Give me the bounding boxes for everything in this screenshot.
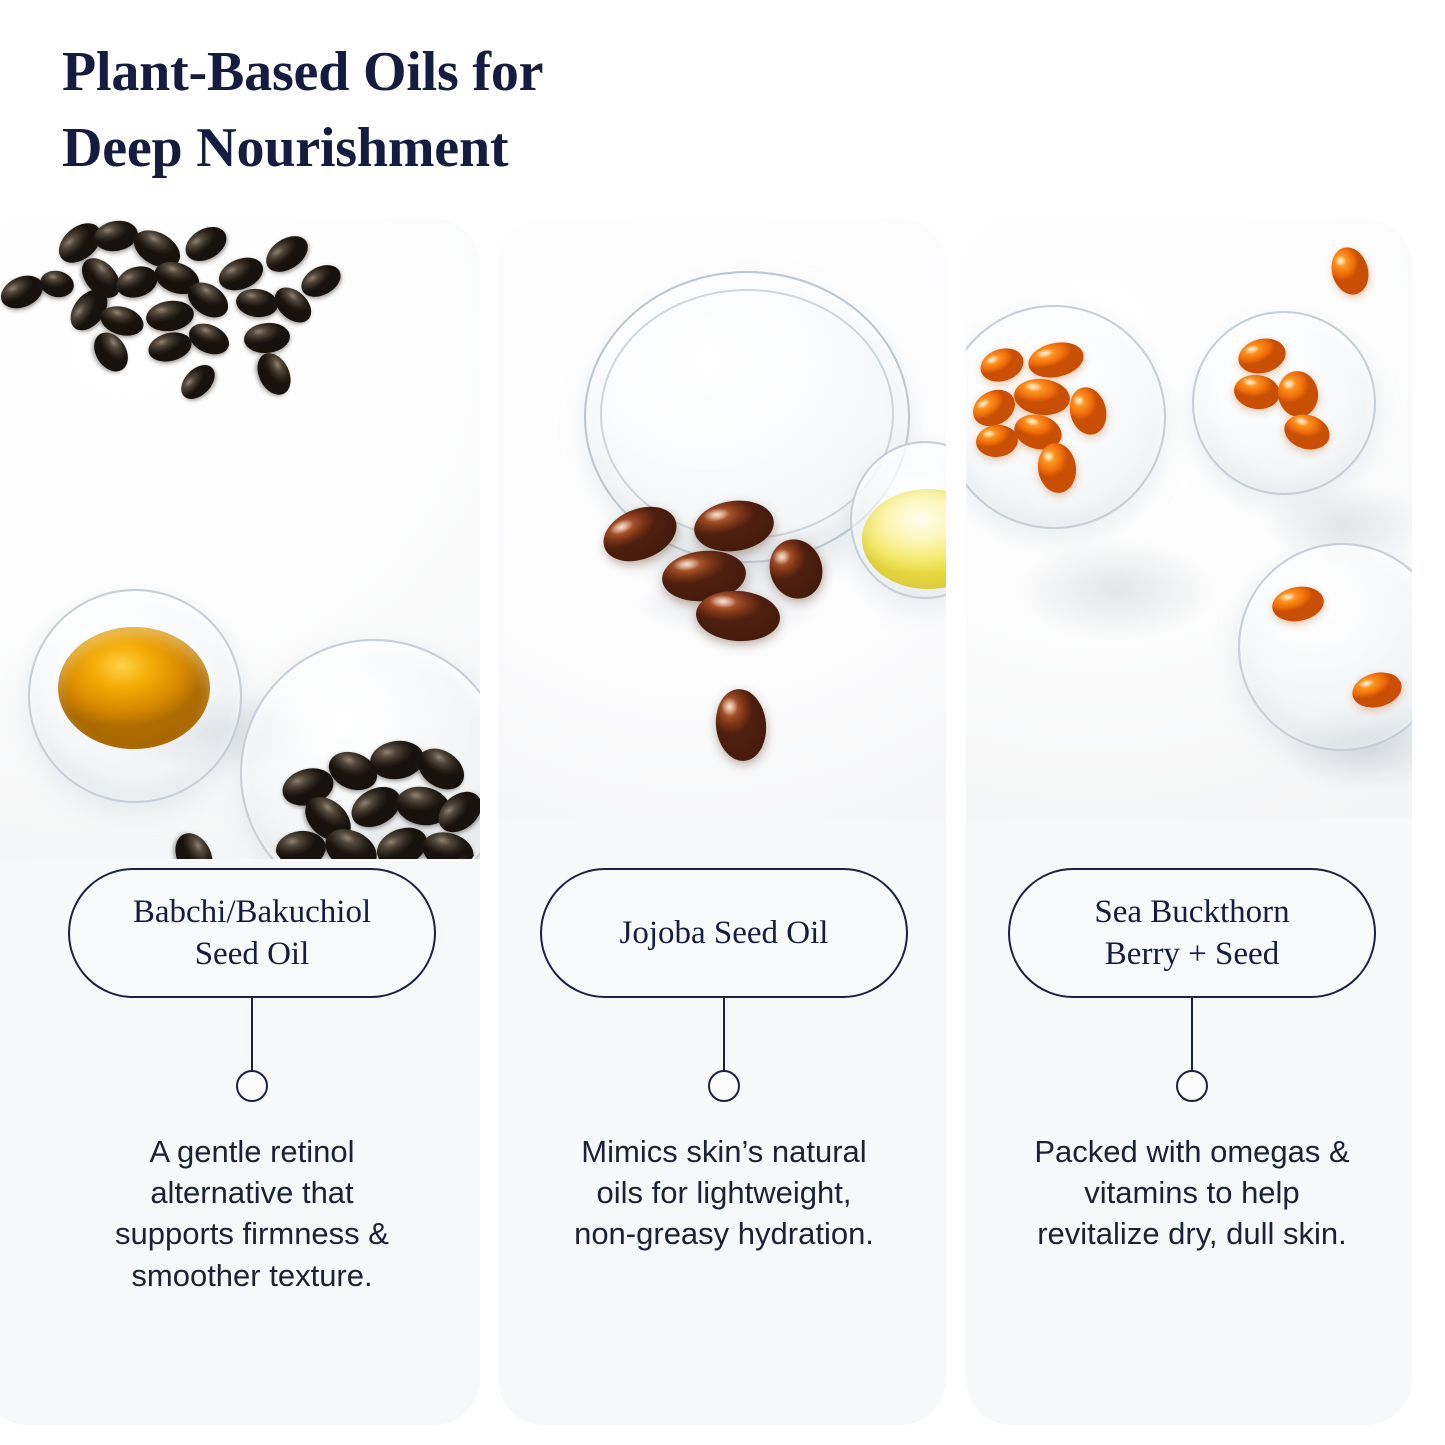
dish-rim <box>1192 311 1376 495</box>
connector-line <box>251 998 253 1072</box>
connector-dot <box>708 1070 740 1102</box>
connector-line <box>723 998 725 1072</box>
bowl-rim <box>28 589 242 803</box>
sea-buckthorn-photo <box>966 219 1412 819</box>
babchi-photo <box>0 219 480 859</box>
ingredient-panel-babchi: Babchi/Bakuchiol Seed Oil A gentle retin… <box>0 219 480 1425</box>
connector-dot <box>1176 1070 1208 1102</box>
ingredient-panel-sea-buckthorn: Sea Buckthorn Berry + Seed Packed with o… <box>966 219 1412 1425</box>
connector-line <box>1191 998 1193 1072</box>
ingredient-description-sea-buckthorn: Packed with omegas & vitamins to help re… <box>974 1131 1410 1255</box>
ingredient-label-babchi[interactable]: Babchi/Bakuchiol Seed Oil <box>68 868 436 998</box>
connector-dot <box>236 1070 268 1102</box>
infographic-canvas: Plant-Based Oils for Deep Nourishment <box>0 0 1445 1445</box>
page-title: Plant-Based Oils for Deep Nourishment <box>62 34 762 186</box>
ingredient-panel-jojoba: Jojoba Seed Oil Mimics skin’s natural oi… <box>498 219 946 1425</box>
ingredient-description-jojoba: Mimics skin’s natural oils for lightweig… <box>512 1131 936 1255</box>
dish-shadow <box>976 519 1256 659</box>
jojoba-photo <box>498 219 946 819</box>
ingredient-label-sea-buckthorn[interactable]: Sea Buckthorn Berry + Seed <box>1008 868 1376 998</box>
ingredient-description-babchi: A gentle retinol alternative that suppor… <box>30 1131 474 1296</box>
ingredient-label-jojoba[interactable]: Jojoba Seed Oil <box>540 868 908 998</box>
